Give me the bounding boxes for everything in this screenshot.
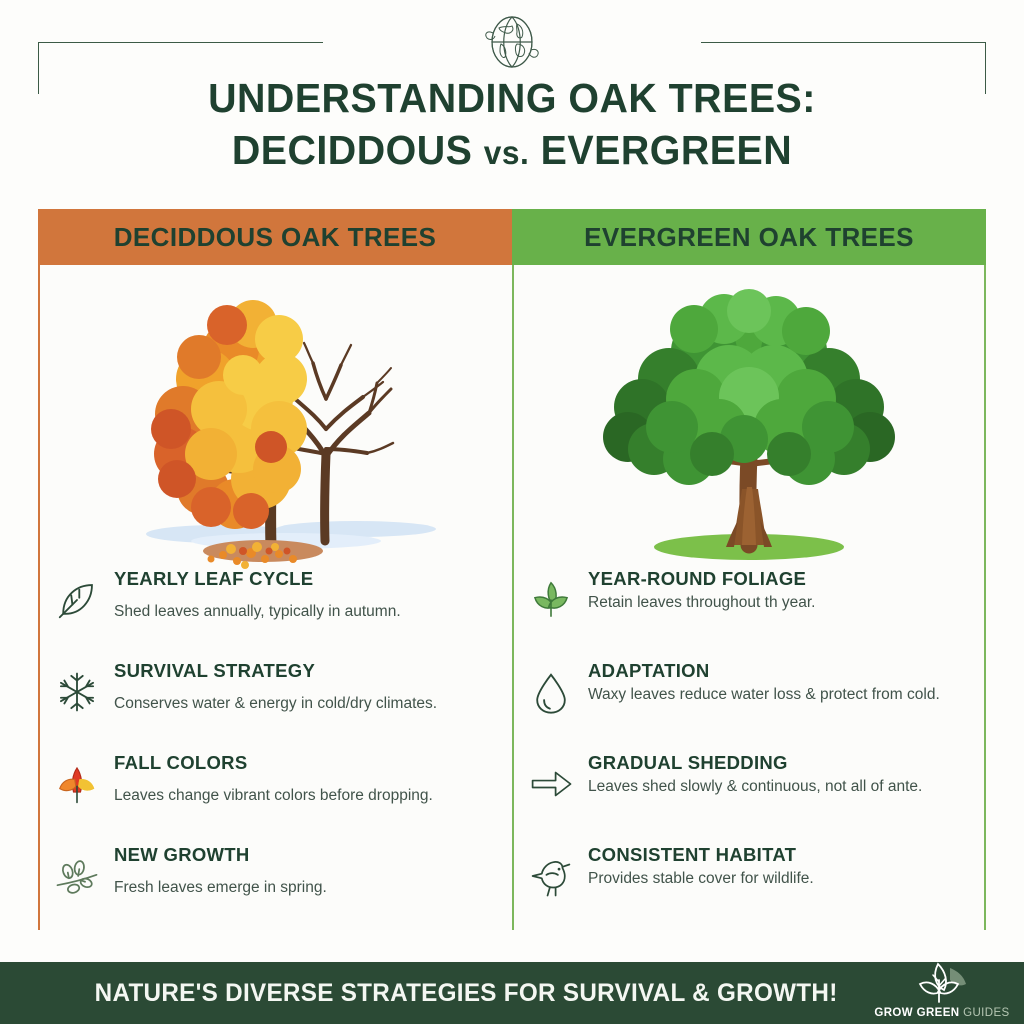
brand-name-light: GUIDES [963,1007,1010,1019]
brand-name-bold: GROW GREEN [874,1007,959,1019]
feature-desc: Leaves change vibrant colors before drop… [114,786,433,806]
feature-item: GRADUAL SHEDDING Leaves shed slowly & co… [528,749,976,839]
title-line-2: DECIDDOUS vs. EVERGREEN [20,124,1003,176]
feature-item: SURVIVAL STRATEGY Conserves water & ener… [54,657,504,747]
feature-desc: Fresh leaves emerge in spring. [114,878,327,898]
feature-title: NEW GROWTH [114,843,327,868]
column-heading-evergreen: EVERGREEN OAK TREES [512,209,986,265]
column-body-evergreen: YEAR-ROUND FOLIAGE Retain leaves through… [512,265,986,930]
feature-text: FALL COLORS Leaves change vibrant colors… [114,749,433,806]
title-vs: vs. [484,134,529,171]
feature-title: YEARLY LEAF CYCLE [114,567,401,592]
column-deciduous: DECIDDOUS OAK TREES [38,209,512,930]
sprouting-branch-icon [54,853,100,899]
feature-title: FALL COLORS [114,751,433,776]
feature-list-deciduous: YEARLY LEAF CYCLE Shed leaves annually, … [40,565,512,930]
footer-banner: NATURE'S DIVERSE STRATEGIES FOR SURVIVAL… [0,962,1024,1024]
brand-logo: GROW GREEN GUIDES [874,962,1024,1019]
title-line-1: UNDERSTANDING OAK TREES: [20,72,1003,124]
brand-name: GROW GREEN GUIDES [874,1007,1009,1019]
title-word-b: EVERGREEN [541,127,792,173]
snowflake-icon [54,669,100,715]
column-body-deciduous: YEARLY LEAF CYCLE Shed leaves annually, … [38,265,512,930]
feature-title: YEAR-ROUND FOLIAGE [588,567,815,592]
feature-text: NEW GROWTH Fresh leaves emerge in spring… [114,841,327,898]
feature-desc: Waxy leaves reduce water loss & protect … [588,685,940,705]
green-leaf-sprig-icon [528,577,574,623]
frame-rule-left [38,42,323,43]
feature-title: GRADUAL SHEDDING [588,751,922,776]
feature-list-evergreen: YEAR-ROUND FOLIAGE Retain leaves through… [514,565,984,930]
feature-title: CONSISTENT HABITAT [588,843,814,868]
bird-icon [528,853,574,899]
autumn-oak-and-bare-oak-illustration [40,269,512,569]
feature-item: FALL COLORS Leaves change vibrant colors… [54,749,504,839]
feature-text: ADAPTATION Waxy leaves reduce water loss… [588,657,940,705]
column-heading-deciduous: DECIDDOUS OAK TREES [38,209,512,265]
feature-item: ADAPTATION Waxy leaves reduce water loss… [528,657,976,747]
water-droplet-icon [528,669,574,715]
feature-desc: Leaves shed slowly & continuous, not all… [588,777,922,797]
feature-desc: Retain leaves throughout th year. [588,593,815,613]
feature-text: GRADUAL SHEDDING Leaves shed slowly & co… [588,749,922,797]
feature-title: SURVIVAL STRATEGY [114,659,437,684]
feature-text: YEARLY LEAF CYCLE Shed leaves annually, … [114,565,401,622]
feature-title: ADAPTATION [588,659,940,684]
feature-item: CONSISTENT HABITAT Provides stable cover… [528,841,976,931]
feature-item: YEARLY LEAF CYCLE Shed leaves annually, … [54,565,504,655]
leaf-plant-logo-icon [914,962,970,1006]
page-title: UNDERSTANDING OAK TREES: DECIDDOUS vs. E… [0,72,1024,177]
arrow-right-icon [528,761,574,807]
green-canopy-oak-illustration [514,269,984,569]
title-word-a: DECIDDOUS [232,127,473,173]
column-evergreen: EVERGREEN OAK TREES [512,209,986,930]
feature-desc: Conserves water & energy in cold/dry cli… [114,694,437,714]
feature-desc: Provides stable cover for wildlife. [588,869,814,889]
footer-tagline: NATURE'S DIVERSE STRATEGIES FOR SURVIVAL… [13,979,861,1008]
feature-text: CONSISTENT HABITAT Provides stable cover… [588,841,814,889]
autumn-maple-leaf-icon [54,761,100,807]
frame-rule-right [701,42,986,43]
globe-leaf-icon [479,8,545,76]
feature-desc: Shed leaves annually, typically in autum… [114,602,401,622]
feature-item: YEAR-ROUND FOLIAGE Retain leaves through… [528,565,976,655]
infographic-page: UNDERSTANDING OAK TREES: DECIDDOUS vs. E… [0,0,1024,1024]
feature-text: SURVIVAL STRATEGY Conserves water & ener… [114,657,437,714]
feature-text: YEAR-ROUND FOLIAGE Retain leaves through… [588,565,815,613]
feature-item: NEW GROWTH Fresh leaves emerge in spring… [54,841,504,931]
comparison-columns: DECIDDOUS OAK TREES [38,209,986,930]
leaf-outline-icon [54,577,100,623]
